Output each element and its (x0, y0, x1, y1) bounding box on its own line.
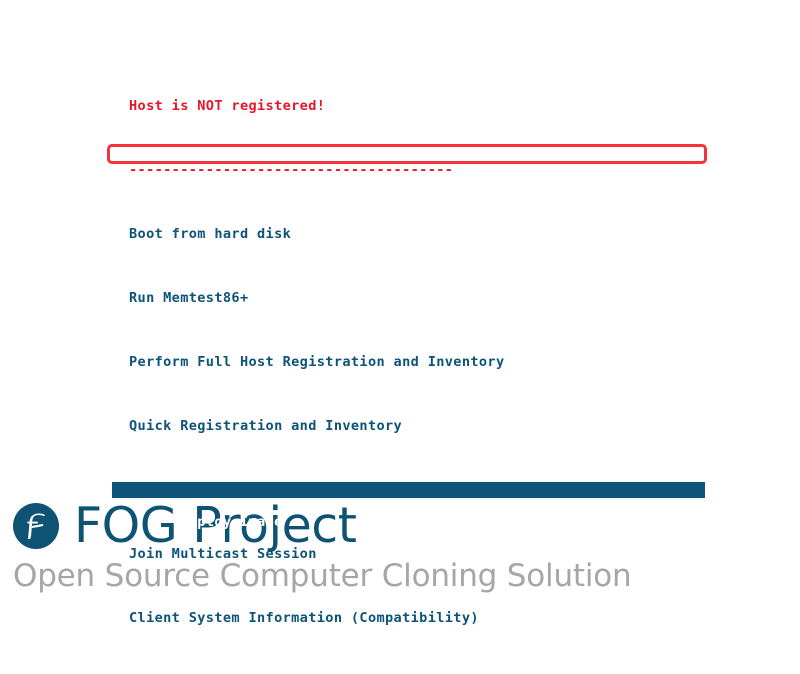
brand-tagline: Open Source Computer Cloning Solution (13, 558, 612, 594)
menu-item-run-memtest86[interactable]: Run Memtest86+ (129, 290, 505, 306)
brand-row: FOG Project (12, 498, 612, 554)
fog-project-branding: FOG Project Open Source Computer Cloning… (12, 498, 612, 594)
menu-item-boot-from-hard-disk[interactable]: Boot from hard disk (129, 226, 505, 242)
menu-separator: -------------------------------------- (129, 162, 505, 178)
fog-f-logo-icon (12, 502, 60, 550)
menu-item-client-system-information-compatibility[interactable]: Client System Information (Compatibility… (129, 610, 505, 626)
host-registration-status: Host is NOT registered! (129, 98, 505, 114)
menu-item-deploy-image[interactable]: Deploy Image (129, 482, 505, 498)
pxe-boot-screen: Host is NOT registered! ----------------… (0, 0, 800, 600)
selected-row-highlight (112, 482, 705, 498)
menu-item-perform-full-host-registration-and-inventory[interactable]: Perform Full Host Registration and Inven… (129, 354, 505, 370)
menu-item-quick-registration-and-inventory[interactable]: Quick Registration and Inventory (129, 418, 505, 434)
menu-item-deploy-image-label: Deploy Image (180, 514, 282, 530)
